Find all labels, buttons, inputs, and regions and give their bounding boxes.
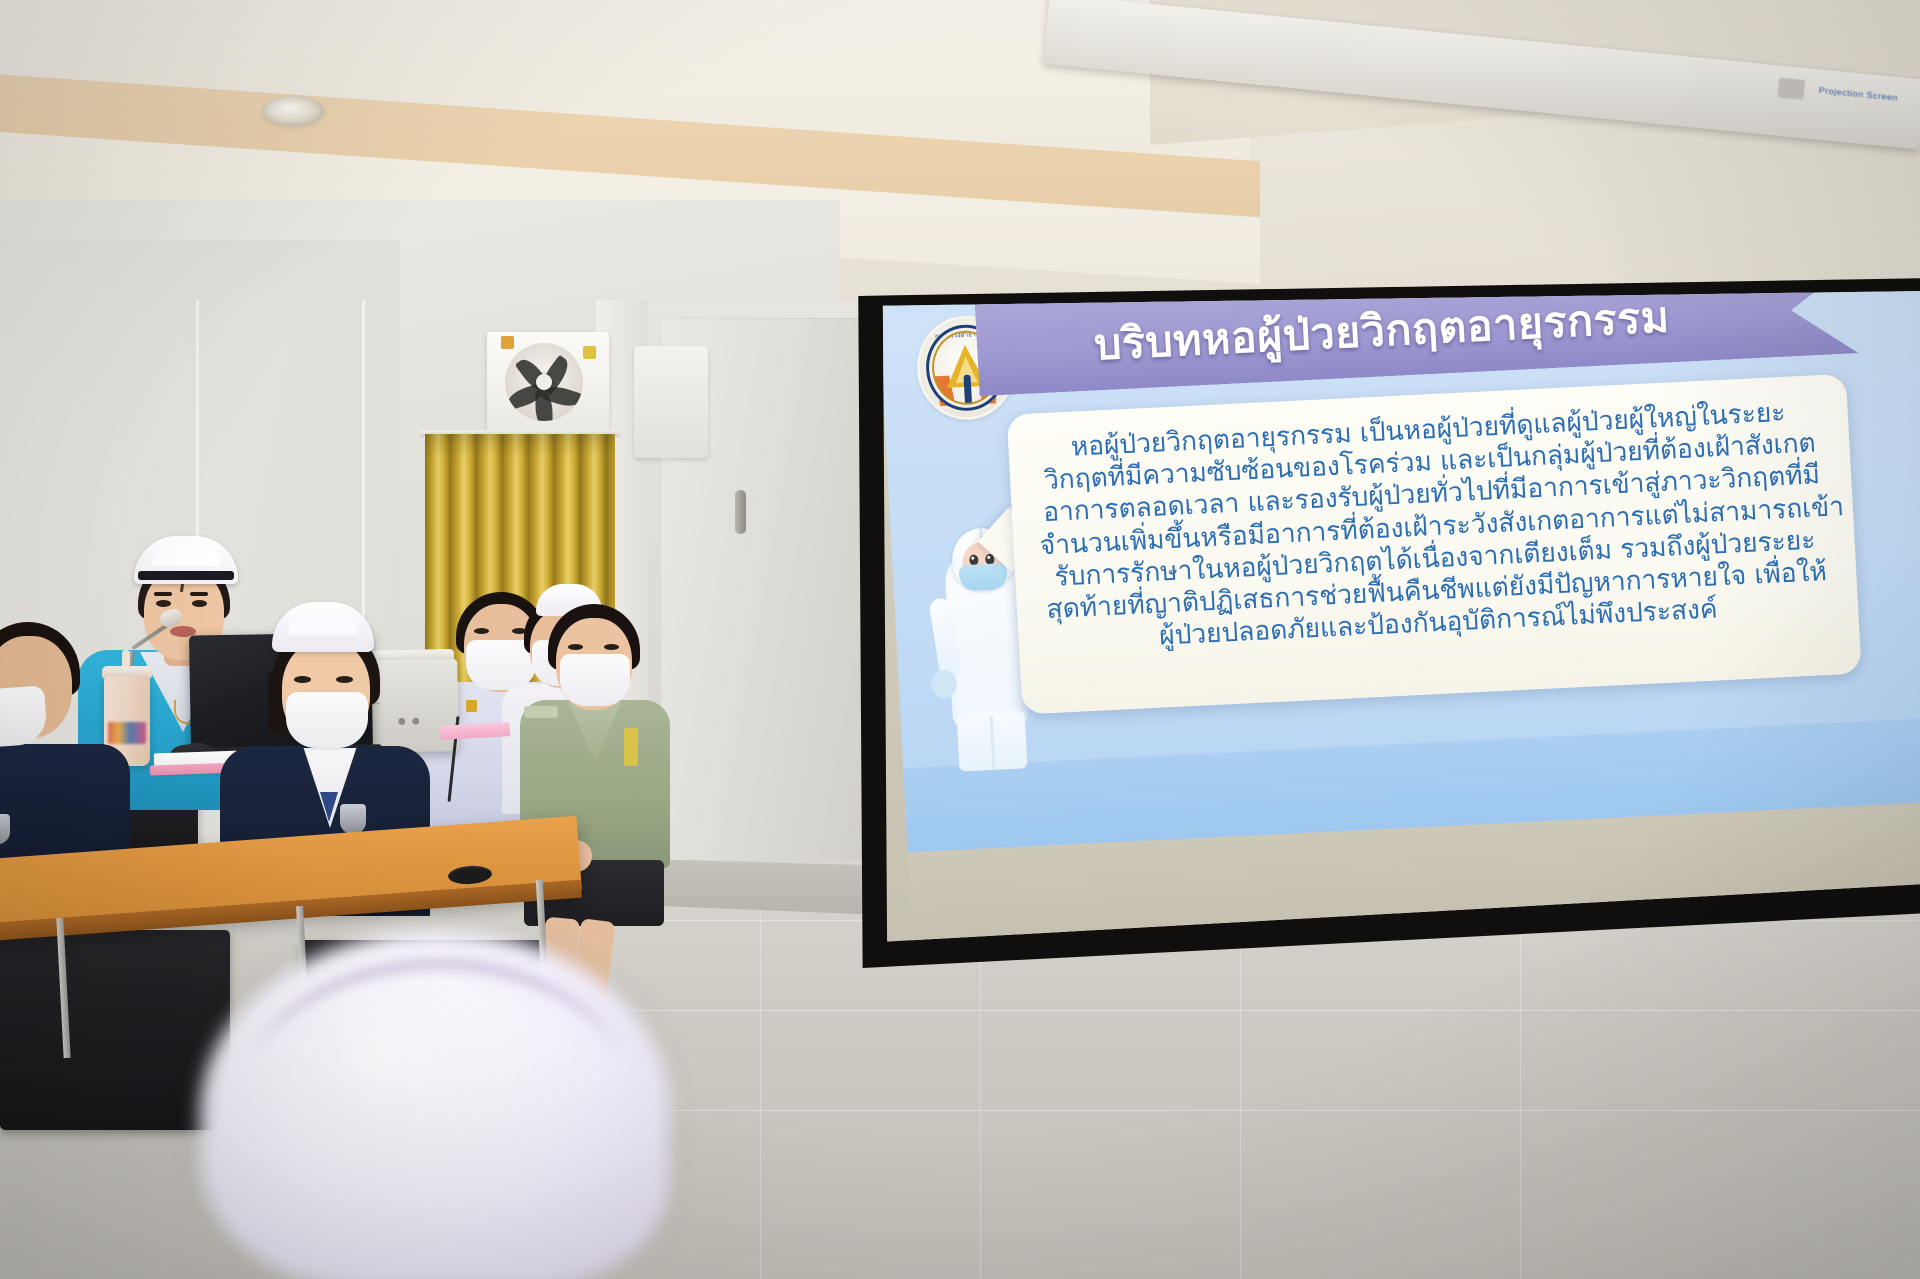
conference-room-photo: Projection Screen กระทรวงสาธารณสุข บริบท… xyxy=(0,0,1920,1279)
fan-blades xyxy=(505,343,583,421)
housing-label: Projection Screen xyxy=(1818,86,1898,103)
exhaust-fan xyxy=(487,332,609,432)
uniform-pin-icon xyxy=(466,700,477,712)
face-mask-icon xyxy=(560,654,630,706)
door-handle[interactable] xyxy=(735,490,746,534)
foreground-nurse-cap-band xyxy=(236,960,636,1260)
presentation-slide: กระทรวงสาธารณสุข บริบทหอผู้ป่วยวิกฤตอายุ… xyxy=(878,283,1920,942)
housing-tab-icon xyxy=(1777,78,1805,100)
nurse-cap-icon xyxy=(272,602,374,652)
chair[interactable] xyxy=(0,930,230,1130)
blazer-crest-icon xyxy=(340,804,366,834)
face-mask-icon xyxy=(286,692,368,748)
tumbler-graphic xyxy=(108,722,146,744)
ceiling-downlight-icon xyxy=(262,96,324,126)
id-badge xyxy=(624,728,638,766)
slide-body-card: หอผู้ป่วยวิกฤตอายุรกรรม เป็นหอผู้ป่วยที่… xyxy=(1007,374,1862,715)
air-conditioner-unit xyxy=(634,346,708,458)
fan-sticker-icon xyxy=(583,346,596,359)
face-mask-icon xyxy=(0,685,48,748)
person-nursing-student-left xyxy=(0,596,110,886)
projection-screen: กระทรวงสาธารณสุข บริบทหอผู้ป่วยวิกฤตอายุ… xyxy=(866,283,1920,951)
fan-sticker-icon xyxy=(501,336,514,349)
nurse-cap-icon xyxy=(134,536,238,584)
